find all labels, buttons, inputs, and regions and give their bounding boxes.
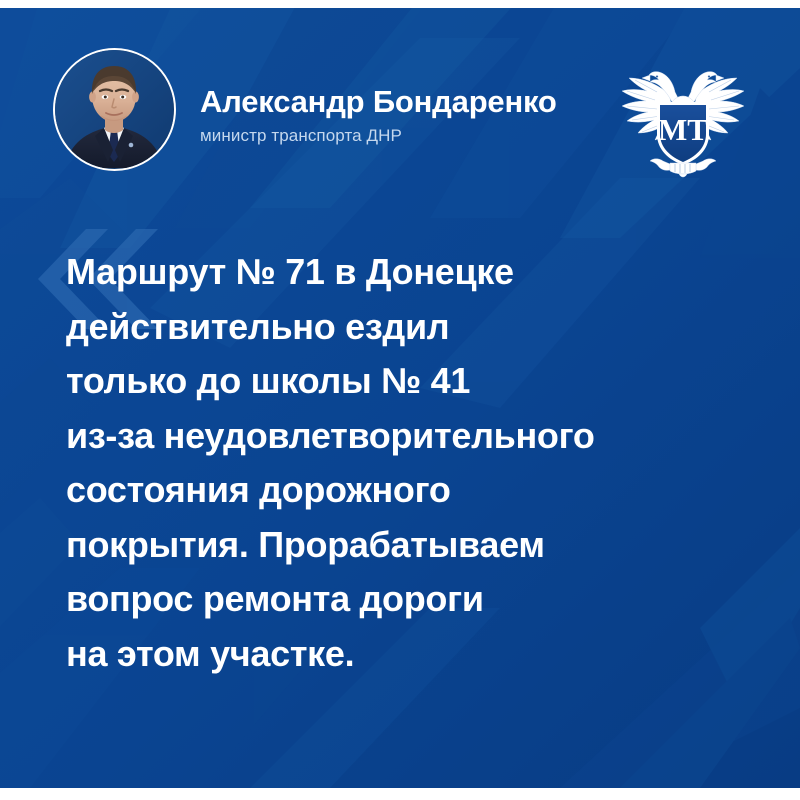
card-header: Александр Бондаренко министр транспорта … [0,8,800,208]
emblem-monogram: МТ [658,112,708,147]
quote-card: Александр Бондаренко министр транспорта … [0,8,800,788]
quote-line: вопрос ремонта дороги [66,572,746,627]
quote-line: только до школы № 41 [66,354,746,409]
speaker-name: Александр Бондаренко [200,86,620,119]
speaker-role: министр транспорта ДНР [200,126,620,146]
speaker-info: Александр Бондаренко министр транспорта … [200,86,620,146]
avatar-photo [55,50,174,169]
quote-line: состояния дорожного [66,463,746,518]
quote-line: Маршрут № 71 в Донецке [66,245,746,300]
avatar [53,48,176,171]
quote-line: из-за неудовлетворительного [66,409,746,464]
quote-text: Маршрут № 71 в Донецке действительно езд… [66,245,746,681]
quote-line: покрытия. Прорабатываем [66,518,746,573]
quote-line: на этом участке. [66,627,746,682]
quote-line: действительно ездил [66,300,746,355]
ministry-emblem: МТ [617,58,749,180]
